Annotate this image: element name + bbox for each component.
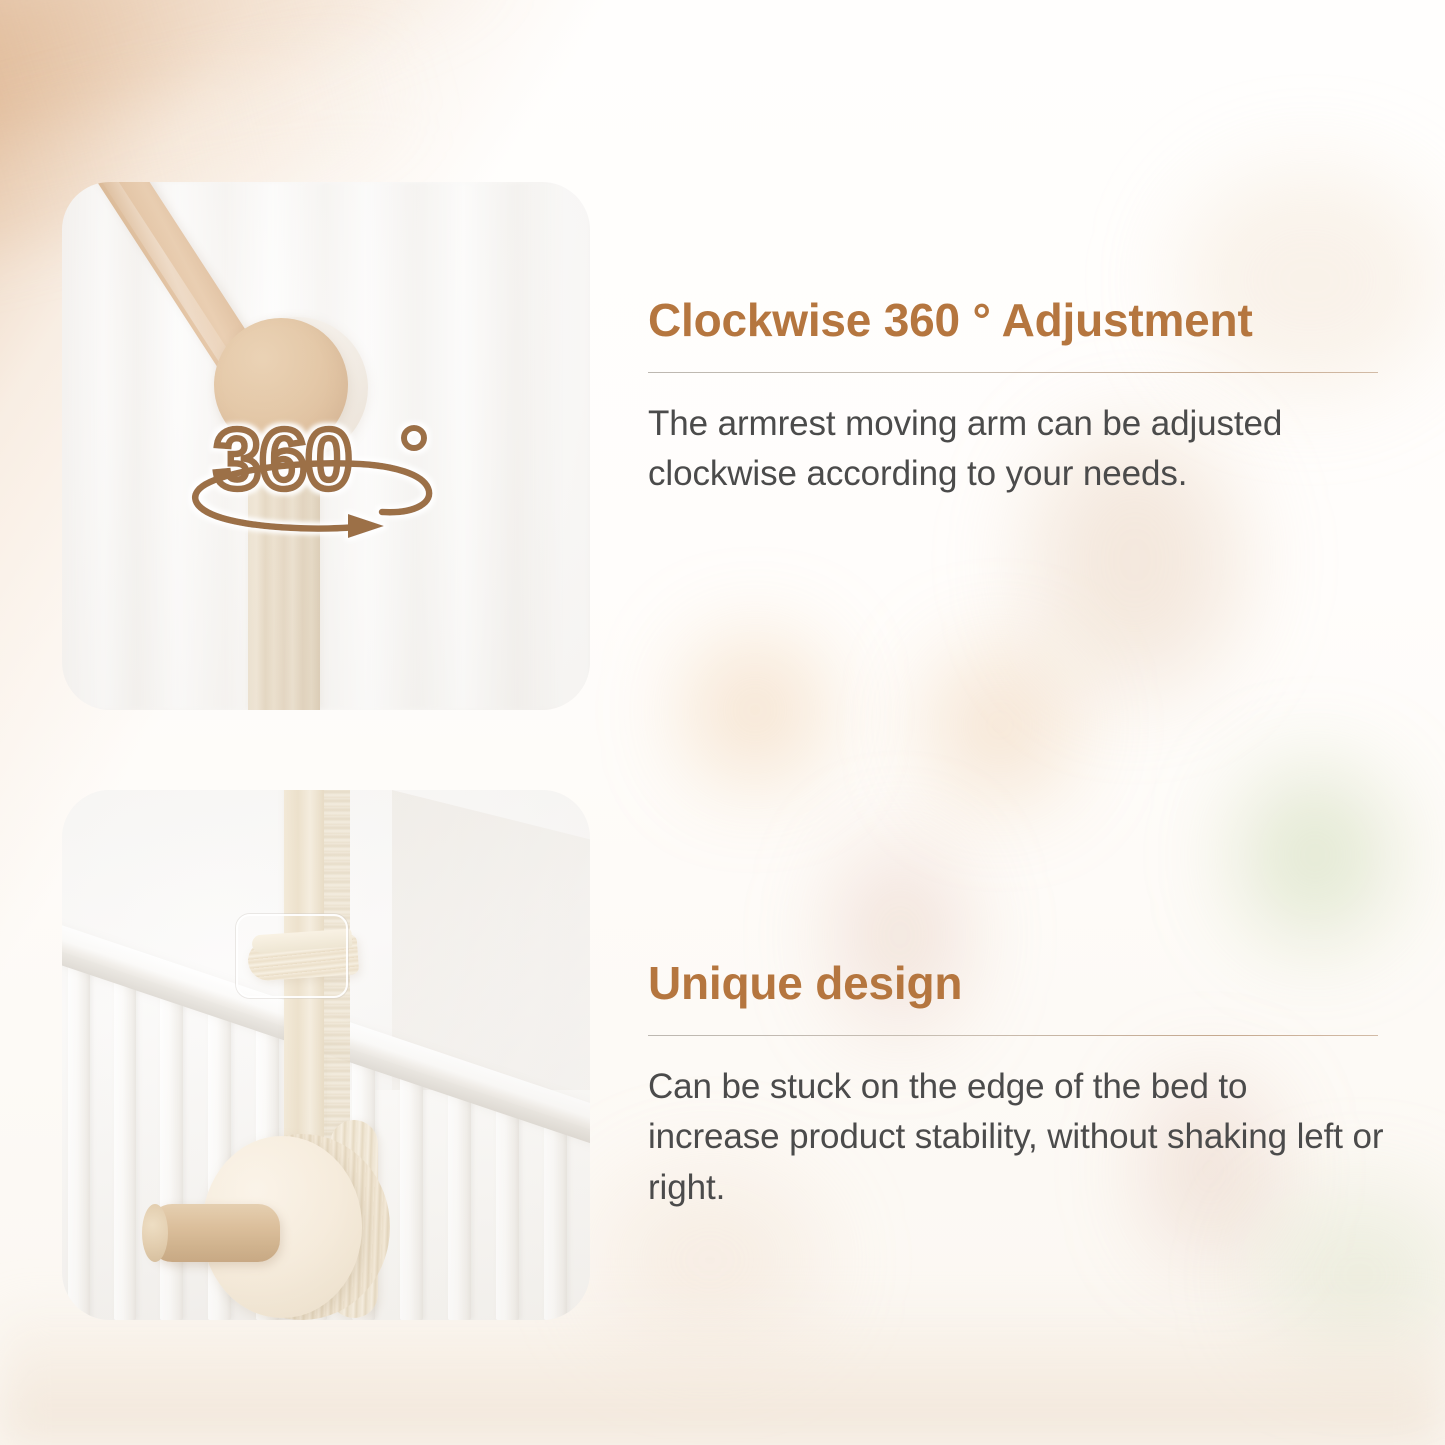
armrest-pivot-photo[interactable]: 360 (62, 182, 590, 710)
feature-divider (648, 1035, 1378, 1036)
feature-block-unique-design: Unique design Can be stuck on the edge o… (648, 955, 1388, 1213)
feature-block-clockwise-360: Clockwise 360 ° Adjustment The armrest m… (648, 292, 1388, 500)
crib-slat (496, 1088, 519, 1320)
feature-description: The armrest moving arm can be adjusted c… (648, 399, 1388, 500)
background-blob-amber-1 (690, 640, 820, 780)
background-blob-green (1240, 770, 1390, 940)
clamp-peg-cap (142, 1204, 168, 1262)
clamp-wooden-peg (150, 1204, 280, 1262)
feature-divider (648, 372, 1378, 373)
crib-clamp-photo[interactable] (62, 790, 590, 1320)
crib-slat (114, 960, 136, 1320)
crib-slat (448, 1072, 471, 1320)
feature-title: Unique design (648, 955, 1388, 1013)
background-blob-amber-2 (930, 650, 1070, 800)
clip-detail-highlight-box (236, 914, 348, 998)
crib-slat (160, 976, 183, 1320)
infographic-page: 360 (0, 0, 1445, 1445)
pivot-disc (214, 318, 348, 452)
crib-slat (400, 1056, 423, 1320)
feature-description: Can be stuck on the edge of the bed to i… (648, 1062, 1388, 1213)
wood-post-shading (248, 442, 320, 710)
crib-slat (544, 1104, 567, 1320)
feature-title: Clockwise 360 ° Adjustment (648, 292, 1388, 350)
crib-slat (68, 948, 90, 1320)
